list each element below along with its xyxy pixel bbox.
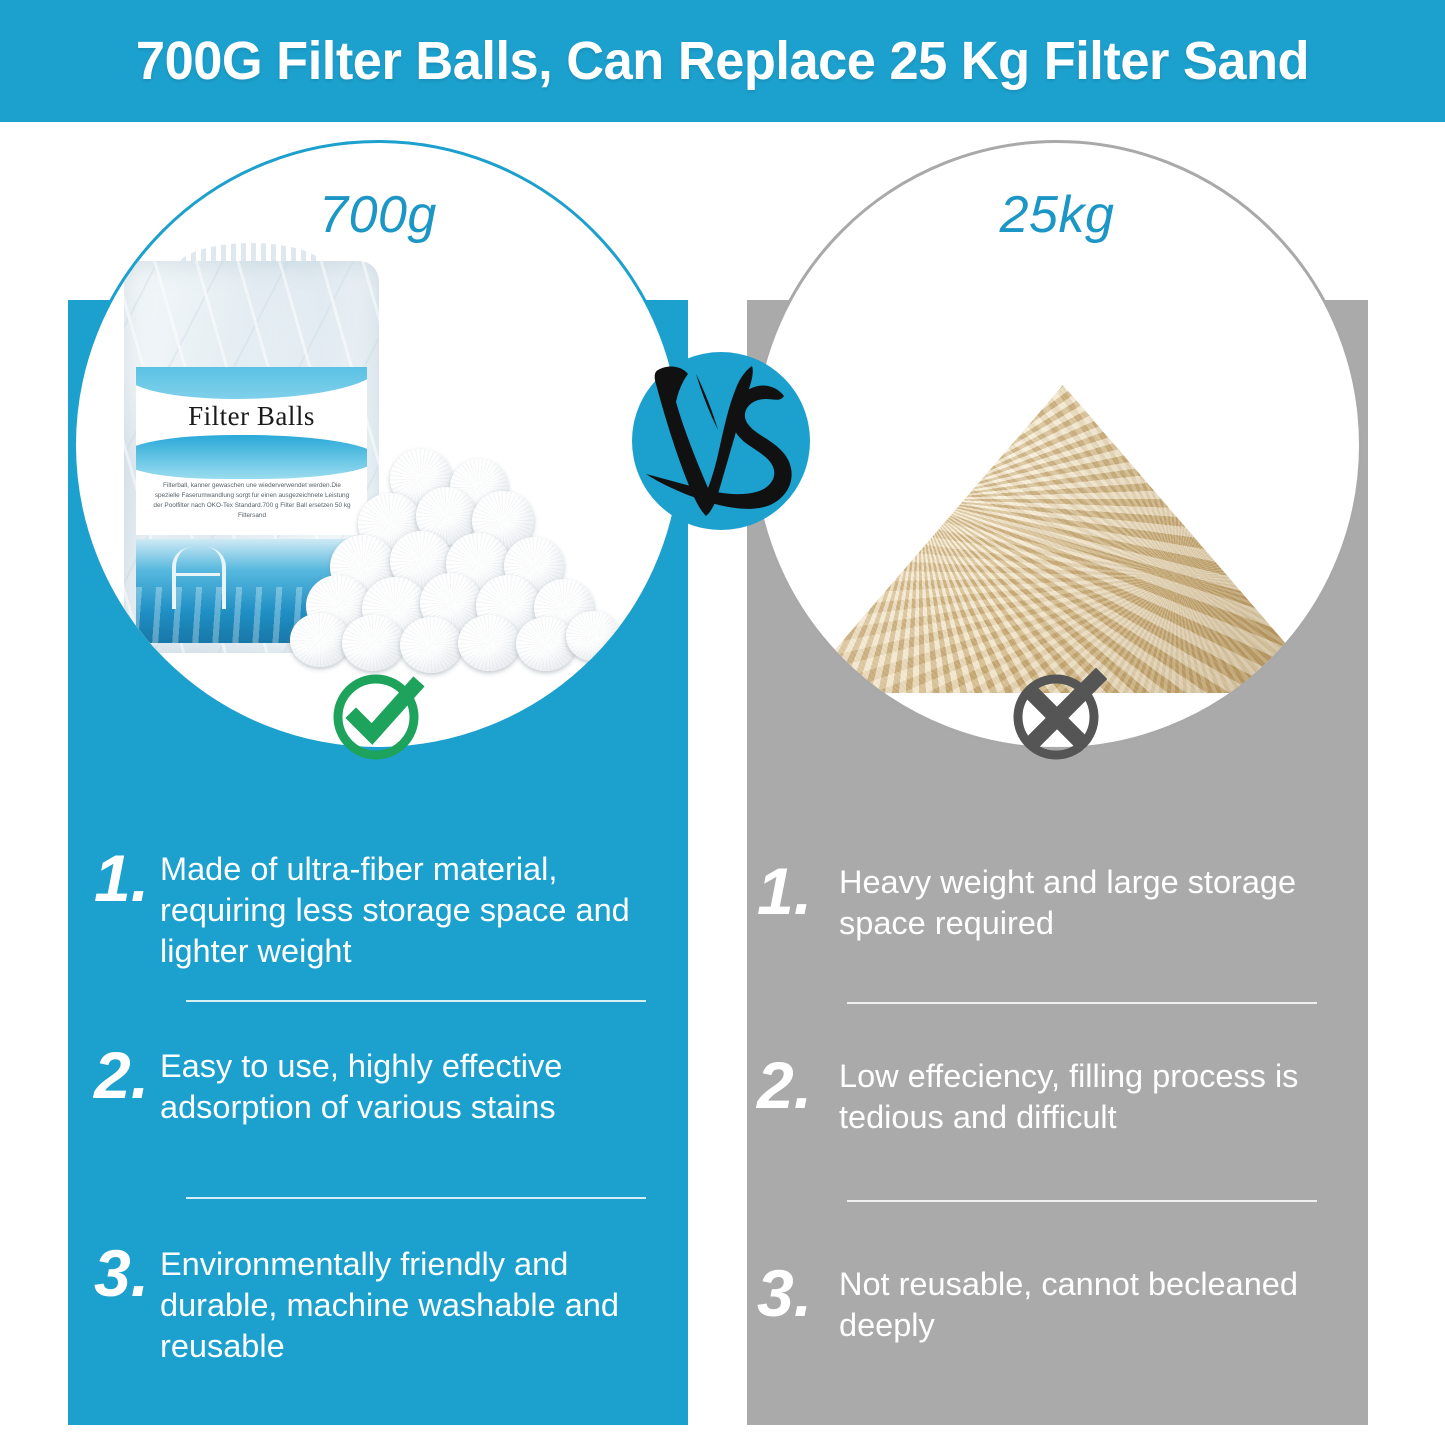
left-divider-2 xyxy=(186,1197,646,1199)
right-divider-1 xyxy=(847,1002,1317,1004)
right-feature-text-3: Not reusable, cannot becleaned deeply xyxy=(839,1260,1347,1346)
check-circle-icon xyxy=(328,665,428,765)
right-feature-row-2: 2. Low effeciency, filling process is te… xyxy=(747,1052,1347,1138)
left-feature-row-3: 3. Environmentally friendly and durable,… xyxy=(68,1240,668,1367)
left-product-circle: 700g Filter Balls Filterball, kanner gew… xyxy=(73,140,683,750)
page-title: 700G Filter Balls, Can Replace 25 Kg Fil… xyxy=(22,0,1424,122)
filter-sand-pile xyxy=(815,385,1311,693)
right-divider-2 xyxy=(847,1200,1317,1202)
right-weight-label: 25kg xyxy=(755,185,1359,245)
versus-badge xyxy=(632,352,810,530)
filter-balls-pile xyxy=(304,443,614,663)
vs-icon xyxy=(632,352,810,530)
left-feature-number-1: 1. xyxy=(68,845,160,911)
right-feature-text-2: Low effeciency, filling process is tedio… xyxy=(839,1052,1347,1138)
left-feature-text-1: Made of ultra-fiber material, requiring … xyxy=(160,845,668,972)
left-divider-1 xyxy=(186,1000,646,1002)
label-wave-top xyxy=(136,367,367,399)
left-feature-text-3: Environmentally friendly and durable, ma… xyxy=(160,1240,668,1367)
left-weight-label: 700g xyxy=(76,185,680,245)
right-feature-number-2: 2. xyxy=(747,1052,839,1118)
package-fineprint: Filterball, kanner gewaschen une wiederv… xyxy=(152,481,352,521)
left-feature-number-2: 2. xyxy=(68,1042,160,1108)
right-feature-number-1: 1. xyxy=(747,858,839,924)
package-product-name: Filter Balls xyxy=(136,401,367,432)
left-feature-row-1: 1. Made of ultra-fiber material, requiri… xyxy=(68,845,668,972)
left-feature-row-2: 2. Easy to use, highly effective adsorpt… xyxy=(68,1042,668,1128)
cross-circle-icon xyxy=(1008,665,1108,765)
right-feature-row-3: 3. Not reusable, cannot becleaned deeply xyxy=(747,1260,1347,1346)
right-feature-row-1: 1. Heavy weight and large storage space … xyxy=(747,858,1347,944)
infographic-canvas: 700G Filter Balls, Can Replace 25 Kg Fil… xyxy=(0,0,1445,1445)
right-feature-number-3: 3. xyxy=(747,1260,839,1326)
sand-shading xyxy=(815,385,1311,693)
right-feature-text-1: Heavy weight and large storage space req… xyxy=(839,858,1347,944)
left-feature-number-3: 3. xyxy=(68,1240,160,1306)
left-feature-text-2: Easy to use, highly effective adsorption… xyxy=(160,1042,668,1128)
right-product-circle: 25kg xyxy=(752,140,1362,750)
